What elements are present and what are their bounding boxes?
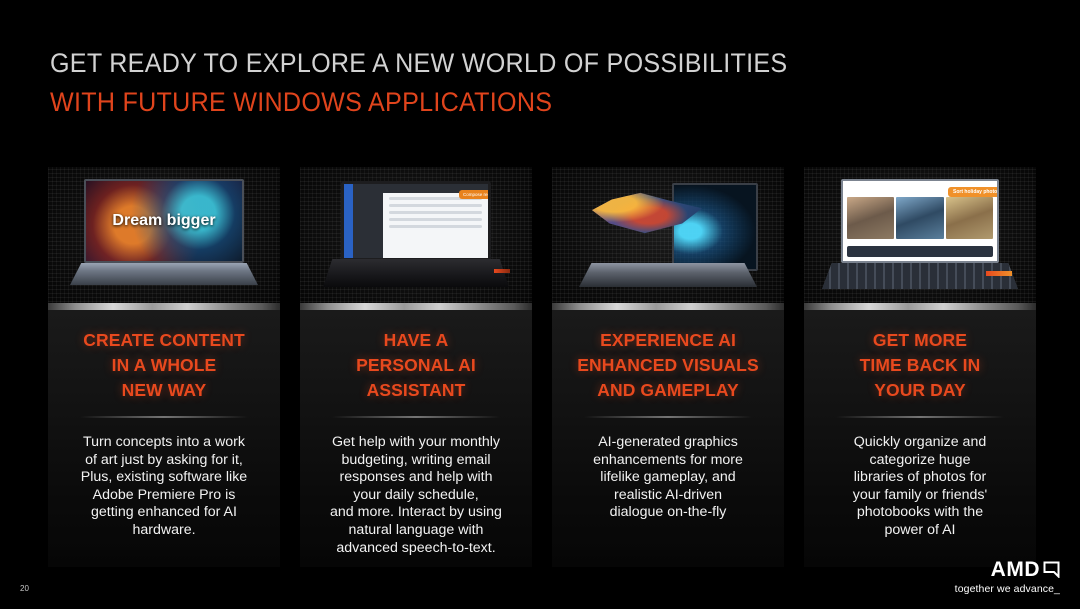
feature-card-enhanced-visuals[interactable]: EXPERIENCE AI ENHANCED VISUALS AND GAMEP… — [552, 167, 784, 567]
card-heading: GET MORE TIME BACK IN YOUR DAY — [860, 328, 981, 403]
laptop-base-icon — [579, 263, 757, 287]
card-inner-divider — [80, 416, 248, 418]
text-line-icon — [389, 225, 482, 228]
photo-thumbnail-icon — [847, 197, 894, 239]
card-body-text: Get help with your monthly budgeting, wr… — [330, 434, 502, 557]
feature-card-create-content[interactable]: Dream bigger CREATE CONTENT IN A WHOLE N… — [48, 167, 280, 567]
card-visual-3 — [552, 167, 784, 310]
card-visual-4: Sort holiday photos — [804, 167, 1036, 310]
title-line-primary: GET READY TO EXPLORE A NEW WORLD OF POSS… — [50, 48, 787, 78]
card-inner-divider — [836, 416, 1004, 418]
amd-arrow-icon — [1043, 561, 1060, 578]
laptop-screen-icon: Sort holiday photos — [841, 179, 999, 263]
amd-brand-text: AMD — [991, 559, 1040, 580]
card-inner-divider — [584, 416, 752, 418]
card-visual-2: Compose response — [300, 167, 532, 310]
card-metal-divider — [804, 303, 1036, 310]
amd-tagline: together we advance_ — [955, 583, 1060, 595]
app-rail-icon — [344, 184, 353, 258]
card-metal-divider — [300, 303, 532, 310]
card-body-text: Quickly organize and categorize huge lib… — [853, 434, 987, 540]
laptop-keyboard-icon — [822, 263, 1018, 289]
laptop-brand-logo-icon — [986, 271, 1012, 276]
page-number: 20 — [20, 584, 29, 593]
text-line-icon — [389, 211, 482, 214]
amd-wordmark: AMD — [955, 559, 1060, 580]
card-metal-divider — [48, 303, 280, 310]
title-line-secondary: WITH FUTURE WINDOWS APPLICATIONS — [50, 87, 787, 117]
card-inner-divider — [332, 416, 500, 418]
app-sidebar-icon — [353, 184, 383, 258]
feature-card-row: Dream bigger CREATE CONTENT IN A WHOLE N… — [48, 167, 1036, 567]
laptop-base-icon — [70, 263, 258, 285]
card-visual-1: Dream bigger — [48, 167, 280, 310]
feature-card-time-back[interactable]: Sort holiday photos GET MORE TIME BACK I… — [804, 167, 1036, 567]
screen-headline-text: Dream bigger — [112, 212, 215, 230]
card-metal-divider — [552, 303, 784, 310]
assistant-tooltip-bubble: Compose response — [459, 190, 491, 199]
card-heading: EXPERIENCE AI ENHANCED VISUALS AND GAMEP… — [577, 328, 758, 403]
amd-logo: AMD together we advance_ — [955, 559, 1060, 595]
slide-root: GET READY TO EXPLORE A NEW WORLD OF POSS… — [0, 0, 1080, 609]
page-title: GET READY TO EXPLORE A NEW WORLD OF POSS… — [50, 48, 843, 117]
gallery-toolbar-icon — [847, 246, 993, 257]
photo-strip-icon — [843, 197, 997, 239]
card-text-panel-2: HAVE A PERSONAL AI ASSISTANT Get help wi… — [300, 310, 532, 567]
laptop-screen-icon: Compose response — [341, 181, 491, 261]
card-body-text: AI-generated graphics enhancements for m… — [593, 434, 743, 522]
card-heading: CREATE CONTENT IN A WHOLE NEW WAY — [83, 328, 245, 403]
card-text-panel-3: EXPERIENCE AI ENHANCED VISUALS AND GAMEP… — [552, 310, 784, 567]
card-heading: HAVE A PERSONAL AI ASSISTANT — [356, 328, 476, 403]
card-text-panel-4: GET MORE TIME BACK IN YOUR DAY Quickly o… — [804, 310, 1036, 567]
photo-thumbnail-icon — [896, 197, 943, 239]
laptop-screen-icon — [672, 183, 758, 271]
laptop-screen-icon: Dream bigger — [84, 179, 244, 263]
text-line-icon — [389, 204, 482, 207]
card-text-panel-1: CREATE CONTENT IN A WHOLE NEW WAY Turn c… — [48, 310, 280, 567]
feature-card-personal-ai[interactable]: Compose response HAVE A PERSONAL AI ASSI… — [300, 167, 532, 567]
laptop-base-icon — [323, 259, 509, 287]
photo-thumbnail-icon — [946, 197, 993, 239]
card-body-text: Turn concepts into a work of art just by… — [81, 434, 247, 540]
laptop-brand-logo-icon — [494, 269, 510, 273]
sort-photos-tooltip-bubble: Sort holiday photos — [948, 187, 999, 197]
text-line-icon — [389, 218, 482, 221]
